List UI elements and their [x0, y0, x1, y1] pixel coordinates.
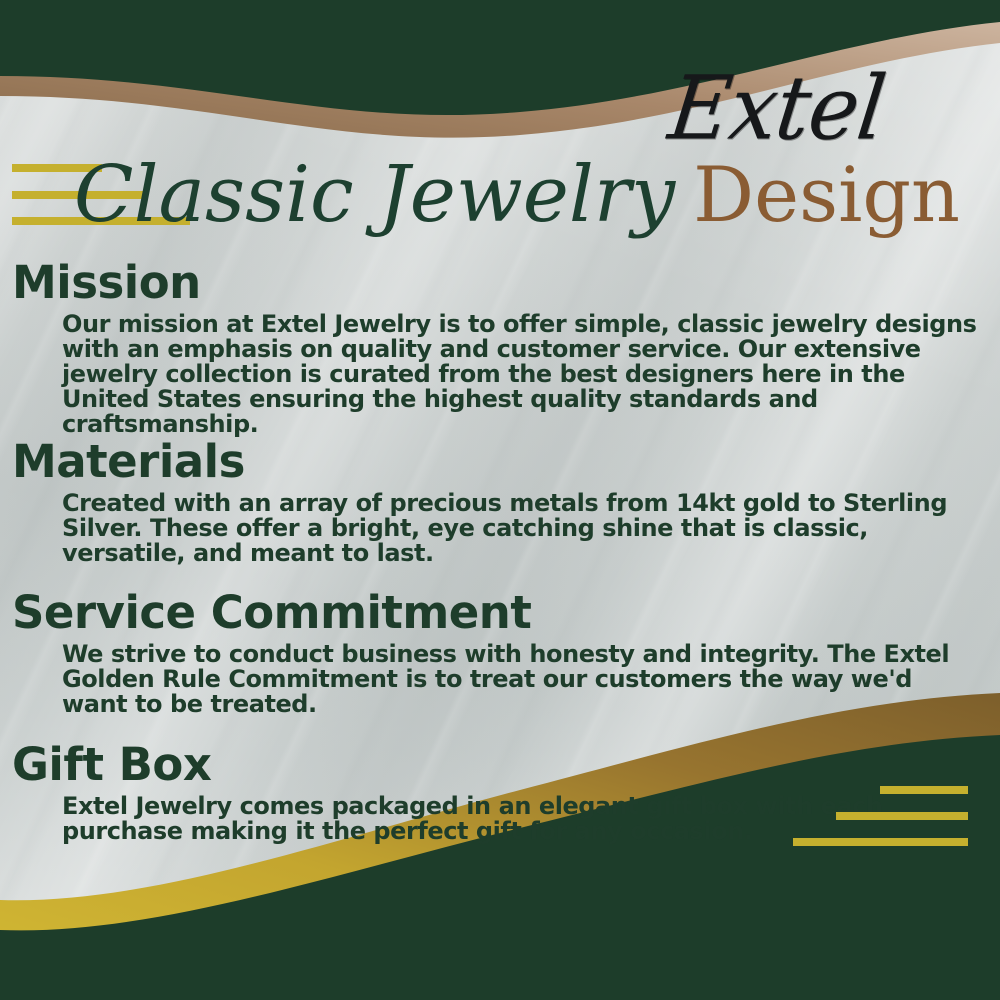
page-title: Classic JewelryDesign [0, 150, 960, 250]
title-serif-part: Design [693, 150, 960, 239]
section-heading: Gift Box [0, 740, 1000, 790]
section-mission: Mission Our mission at Extel Jewelry is … [0, 258, 1000, 437]
section-materials: Materials Created with an array of preci… [0, 437, 1000, 566]
section-body: Created with an array of precious metals… [0, 487, 1000, 566]
brand-logo: Extel [607, 64, 948, 152]
gold-rule-bottom-3 [793, 838, 968, 846]
section-service-commitment: Service Commitment We strive to conduct … [0, 588, 1000, 717]
section-gift-box: Gift Box Extel Jewelry comes packaged in… [0, 740, 1000, 844]
gold-rule-bottom-2 [836, 812, 968, 820]
section-heading: Mission [0, 258, 1000, 308]
section-body: We strive to conduct business with hones… [0, 638, 1000, 717]
section-heading: Materials [0, 437, 1000, 487]
gold-rule-bottom-1 [880, 786, 968, 794]
poster-canvas: Extel Classic JewelryDesign Mission Our … [0, 0, 1000, 1000]
title-script-part: Classic Jewelry [74, 150, 675, 240]
section-body: Our mission at Extel Jewelry is to offer… [0, 308, 1000, 437]
section-heading: Service Commitment [0, 588, 1000, 638]
